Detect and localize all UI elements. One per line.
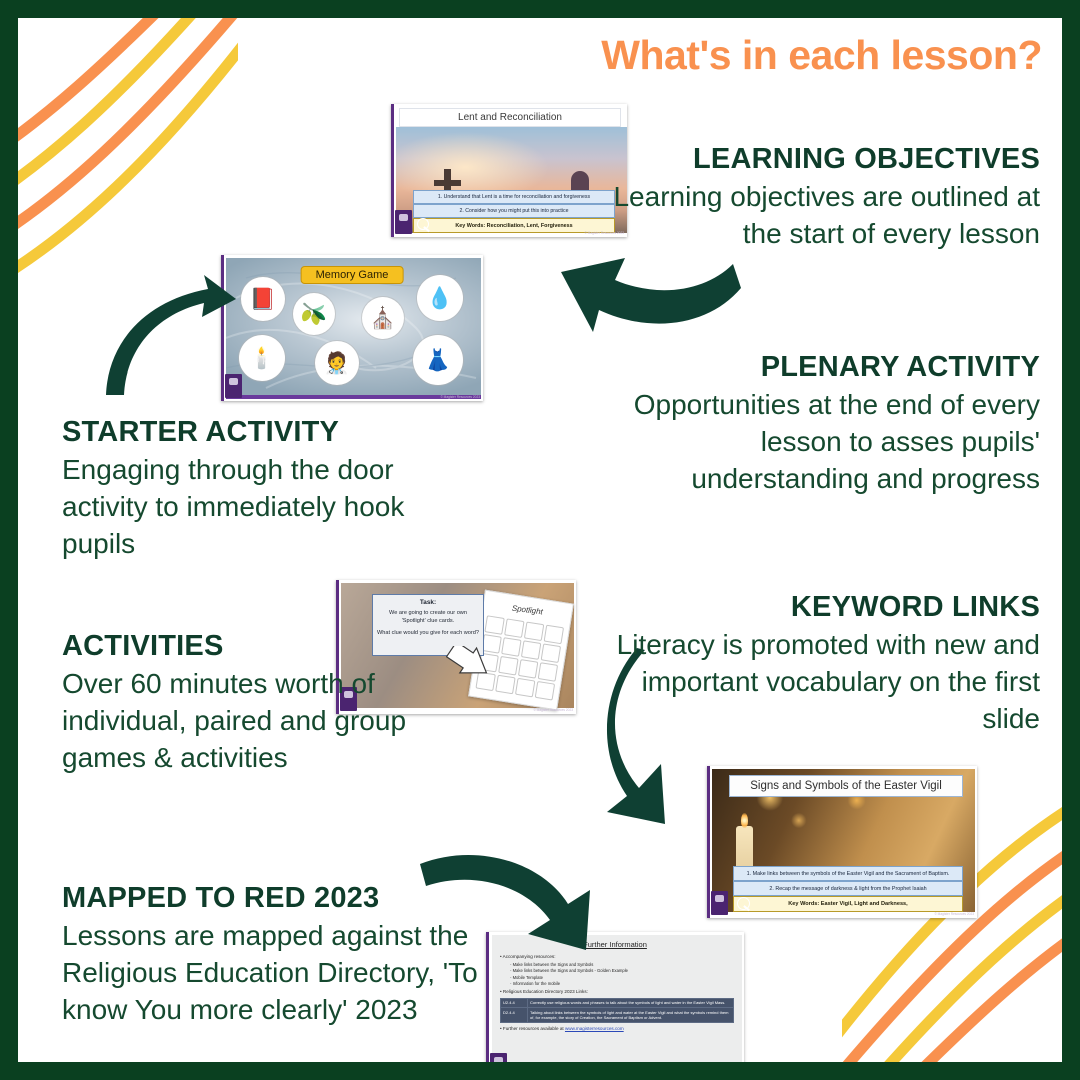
slide-objective-1: 1. Make links between the symbols of the…: [733, 866, 963, 881]
slide-objective-2: 2. Recap the message of darkness & light…: [733, 881, 963, 896]
block-body: Lessons are mapped against the Religious…: [62, 918, 492, 1029]
slide-thumbnail-memory-game[interactable]: Memory Game 📕 🫒 ⛪ 💧 🕯️ 🧑‍⚕️ 👗 © Magister…: [221, 255, 483, 401]
page-title: What's in each lesson?: [601, 32, 1042, 79]
slide-credit: © Magister Resources 2023: [533, 708, 573, 712]
slide-objective-1: 1. Understand that Lent is a time for re…: [413, 190, 615, 204]
text-block-learning-objectives: LEARNING OBJECTIVES Learning objectives …: [610, 143, 1040, 253]
priest-icon: 🧑‍⚕️: [315, 341, 359, 385]
slide-objective-2: 2. Consider how you might put this into …: [413, 204, 615, 218]
slide-credit: © Magister Resources 2023: [934, 912, 974, 916]
red-text: Correctly use religious words and phrase…: [528, 999, 734, 1008]
task-line-1: We are going to create our own 'Spotligh…: [377, 609, 479, 625]
block-heading: PLENARY ACTIVITY: [610, 351, 1040, 383]
text-block-activities: ACTIVITIES Over 60 minutes worth of indi…: [62, 630, 462, 777]
oil-jar-icon: 🫒: [293, 293, 335, 335]
water-drops-icon: 💧: [417, 275, 463, 321]
block-body: Learning objectives are outlined at the …: [610, 179, 1040, 253]
resource-list: Make links between the Signs and Symbols…: [510, 962, 734, 988]
corner-stripes-top-left: [18, 18, 238, 276]
slide-title: Lent and Reconciliation: [399, 108, 621, 127]
memory-game-title: Memory Game: [301, 266, 404, 284]
block-heading: MAPPED TO RED 2023: [62, 882, 492, 914]
block-heading: STARTER ACTIVITY: [62, 416, 452, 448]
publisher-logo: [225, 374, 242, 398]
block-body: Literacy is promoted with new and import…: [600, 627, 1040, 738]
block-heading: ACTIVITIES: [62, 630, 462, 662]
white-garment-icon: 👗: [413, 335, 463, 385]
slide-thumbnail-lent-reconciliation[interactable]: Lent and Reconciliation 1. Understand th…: [391, 104, 627, 237]
table-row: U2.4.4 Correctly use religious words and…: [501, 999, 734, 1008]
slide-body: • Accompanying resources: Make links bet…: [500, 954, 734, 1033]
text-block-mapped-to-red: MAPPED TO RED 2023 Lessons are mapped ag…: [62, 882, 492, 1029]
slide-left-bar: [391, 104, 394, 237]
block-heading: LEARNING OBJECTIVES: [610, 143, 1040, 175]
bullet-accompanying-resources: • Accompanying resources:: [500, 954, 734, 961]
text-block-plenary-activity: PLENARY ACTIVITY Opportunities at the en…: [610, 351, 1040, 498]
paschal-candle-icon: 🕯️: [239, 335, 285, 381]
slide-title: Further Information: [486, 940, 744, 949]
publisher-logo: [490, 1053, 507, 1062]
block-body: Over 60 minutes worth of individual, pai…: [62, 666, 462, 777]
red-links-table: U2.4.4 Correctly use religious words and…: [500, 998, 734, 1023]
text-block-starter-activity: STARTER ACTIVITY Engaging through the do…: [62, 416, 452, 563]
table-row: D2.4.4 Talking about links between the s…: [501, 1008, 734, 1023]
bullet-red-links: • Religious Education Directory 2023 Lin…: [500, 989, 734, 996]
slide-keywords: Key Words: Easter Vigil, Light and Darkn…: [733, 896, 963, 912]
poster-page: What's in each lesson? Lent and Reconcil…: [18, 18, 1062, 1062]
bible-icon: 📕: [241, 277, 285, 321]
block-heading: KEYWORD LINKS: [600, 591, 1040, 623]
task-heading: Task:: [377, 598, 479, 607]
list-item: Information for the mobile: [510, 981, 734, 987]
baptismal-font-icon: ⛪: [362, 297, 404, 339]
slide-left-bar: [221, 255, 224, 401]
magnifier-icon: [737, 897, 750, 910]
website-link[interactable]: www.magisterresources.com: [565, 1026, 624, 1031]
block-body: Engaging through the door activity to im…: [62, 452, 452, 563]
poster-canvas: What's in each lesson? Lent and Reconcil…: [0, 0, 1080, 1080]
slide-title: Signs and Symbols of the Easter Vigil: [729, 775, 963, 797]
slide-thumbnail-further-information[interactable]: Further Information • Accompanying resou…: [486, 932, 744, 1062]
slide-left-bar: [707, 766, 710, 918]
arrow-to-starter-activity-icon: [98, 273, 238, 398]
slide-credit: © Magister Resources 2023: [440, 395, 480, 399]
block-body: Opportunities at the end of every lesson…: [610, 387, 1040, 498]
bullet-further-resources: • Further resources available at www.mag…: [500, 1026, 734, 1033]
slide-thumbnail-easter-vigil[interactable]: Signs and Symbols of the Easter Vigil 1.…: [707, 766, 977, 918]
red-code: D2.4.4: [501, 1008, 528, 1023]
publisher-logo: [711, 891, 728, 915]
red-code: U2.4.4: [501, 999, 528, 1008]
text-block-keyword-links: KEYWORD LINKS Literacy is promoted with …: [600, 591, 1040, 738]
publisher-logo: [395, 210, 412, 234]
magnifier-icon: [417, 218, 429, 230]
red-text: Talking about links between the symbols …: [528, 1008, 734, 1023]
